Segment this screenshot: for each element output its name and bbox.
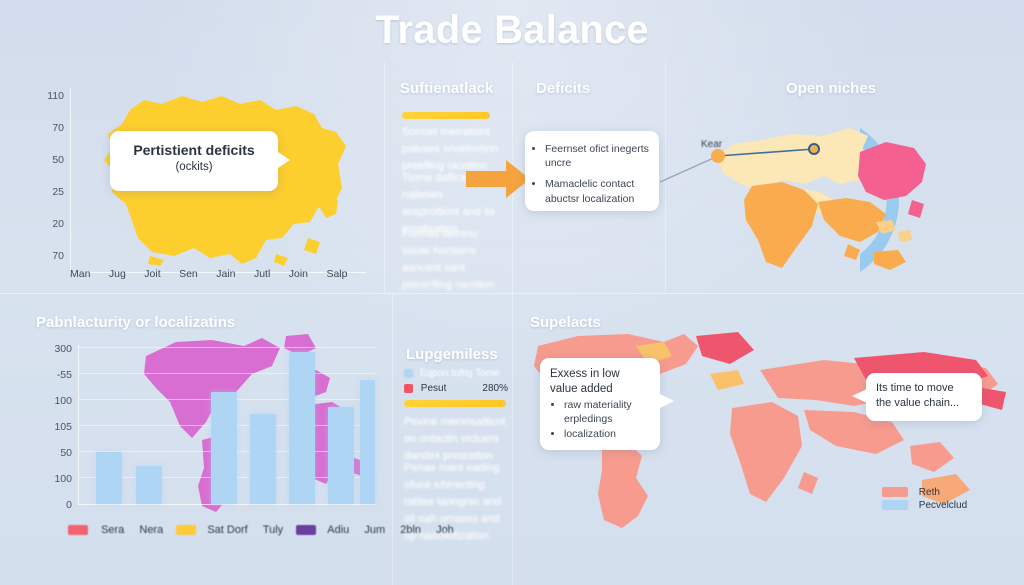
- legend-item-pecvelclud: Pecvelclud: [882, 500, 967, 511]
- bar-ytick-0: 300: [30, 343, 72, 355]
- legend-bottom-right: Reth Pecvelclud: [882, 487, 967, 511]
- ytick-3: 25: [26, 186, 64, 198]
- legend-swatch-pecvelclud: [882, 500, 908, 510]
- accent-bar-yellow-bottom: [404, 400, 506, 407]
- legend-swatch-adiu: [296, 525, 316, 535]
- bar-x-axis-line: [78, 504, 375, 505]
- callout-persistent-deficits-line2: (ockits): [110, 161, 278, 173]
- legend-item-pesut: Pesut 280%: [404, 383, 508, 394]
- bar-item: [136, 466, 162, 504]
- legend-label-sera: Sera: [101, 524, 124, 536]
- callout-excess-bullet-1: raw materiality erpledings: [564, 399, 660, 426]
- xtick-jug: Jug: [109, 268, 126, 280]
- callout-tail-persistent-deficits: [278, 152, 290, 168]
- callout-persistent-deficits: Pertistient deficits (ockits): [110, 131, 278, 191]
- section-title-pabnlacturity: Pabnlacturity or localizatins: [36, 314, 235, 331]
- paragraph-bottom-1: Poxine mersnsalticnt on ontactin victuer…: [404, 414, 506, 465]
- legend-swatch-sat-dorf: [176, 525, 196, 535]
- world-map-open-niches: [700, 110, 1000, 290]
- callout-excess-line2: value added: [550, 383, 660, 395]
- bar-item: [250, 414, 276, 504]
- callout-excess-line1: Exxess in low: [550, 368, 660, 380]
- callout-excess-bullet-2: localization: [564, 428, 660, 442]
- legend-label-eqpon: Eqpon tultig Tome: [420, 368, 500, 379]
- paragraph-bottom-2: Penae mant eading ofuce icbrrecting rati…: [404, 460, 506, 545]
- legend-item-reth: Reth: [882, 487, 967, 498]
- callout-value-chain-line1: Its time to move: [876, 382, 982, 394]
- xtick-sen: Sen: [179, 268, 198, 280]
- panel-divider-vertical-top-1: [384, 62, 385, 293]
- paragraph-top-3: Formes detresc sisuie hortaens aanceot s…: [402, 226, 502, 294]
- xtick-jutl: Jutl: [254, 268, 270, 280]
- bar-item: [289, 352, 315, 504]
- ytick-4: 20: [26, 218, 64, 230]
- section-title-open-niches: Open niches: [786, 80, 876, 97]
- section-title-deficits: Deficits: [536, 80, 590, 97]
- bar-ytick-3: 105: [30, 421, 72, 433]
- legend-value-pesut: 280%: [482, 383, 508, 394]
- legend-bottom-left: Sera Nera Sat Dorf Tuly Adiu Jum 2bln Jo…: [68, 524, 460, 536]
- ytick-2: 50: [26, 154, 64, 166]
- accent-bar-yellow-top: [402, 112, 490, 119]
- legend-label-tuly: Tuly: [263, 524, 283, 536]
- callout-value-chain-line2: the value chain...: [876, 397, 982, 409]
- legend-swatch-reth: [882, 487, 908, 497]
- panel-divider-vertical-bottom-2: [512, 294, 513, 585]
- legend-swatch-eqpon: [404, 369, 413, 378]
- bar-ytick-1: -55: [30, 369, 72, 381]
- legend-label-reth: Reth: [919, 487, 940, 498]
- ytick-0: 110: [26, 90, 64, 102]
- chart-bottom-left: 300 -55 100 105 50 100 0: [30, 345, 375, 515]
- legend-label-pecvelclud: Pecvelclud: [919, 500, 967, 511]
- xtick-man: Man: [70, 268, 90, 280]
- bar-ytick-5: 100: [30, 473, 72, 485]
- bar-ytick-6: 0: [30, 499, 72, 511]
- arrow-right-icon: [466, 158, 532, 200]
- deficit-bullet-1: Feernset ofict inegerts uncre: [545, 142, 651, 170]
- bar-ytick-2: 100: [30, 395, 72, 407]
- infographic-canvas: Trade Balance 110 70 50 25 20 70 Man Jug…: [0, 0, 1024, 585]
- map-connector-line: [660, 120, 840, 190]
- xaxis-top-left: Man Jug Joit Sen Jain Jutl Join Salp: [70, 264, 370, 282]
- callout-excess-low-value: Exxess in low value added raw materialit…: [540, 358, 660, 450]
- callout-value-chain: Its time to move the value chain...: [866, 373, 982, 421]
- bar-plot-area: [78, 345, 375, 504]
- legend-item-eqpon: Eqpon tultig Tome: [404, 368, 508, 379]
- bar-item: [328, 407, 354, 504]
- callout-tail-excess: [660, 394, 674, 408]
- xtick-salp: Salp: [326, 268, 347, 280]
- page-title: Trade Balance: [0, 8, 1024, 53]
- bar-item: [211, 392, 237, 504]
- legend-label-sat-dorf: Sat Dorf: [207, 524, 247, 536]
- section-title-lupgemiless: Lupgemiless: [406, 346, 498, 363]
- panel-divider-vertical-top-3: [665, 62, 666, 293]
- bar-ytick-4: 50: [30, 447, 72, 459]
- deficit-bullet-2: Mamaclelic contact abuctsr localization: [545, 177, 651, 205]
- legend-label-adiu: Adiu: [327, 524, 349, 536]
- legend-swatch-pesut: [404, 384, 413, 393]
- legend-swatch-sera: [68, 525, 88, 535]
- legend-label-jum: Jum: [364, 524, 385, 536]
- ytick-5: 70: [26, 250, 64, 262]
- callout-deficits-bullets: Feernset ofict inegerts uncre Mamaclelic…: [525, 131, 659, 211]
- callout-tail-value-chain: [852, 389, 867, 403]
- map-marker-label-kear: Kear: [701, 139, 722, 150]
- section-title-supelacts: Supelacts: [530, 314, 601, 331]
- panel-divider-vertical-bottom-1: [392, 294, 393, 585]
- ytick-1: 70: [26, 122, 64, 134]
- callout-persistent-deficits-line1: Pertistient deficits: [110, 142, 278, 158]
- xtick-join: Join: [289, 268, 308, 280]
- section-title-suftienatlack: Suftienatlack: [400, 80, 493, 97]
- bar-item: [360, 380, 375, 504]
- xtick-jain: Jain: [216, 268, 235, 280]
- legend-label-pesut: Pesut: [421, 383, 447, 394]
- legend-label-nera: Nera: [139, 524, 163, 536]
- y-axis-line: [70, 88, 71, 272]
- bar-item: [96, 452, 122, 504]
- xtick-joit: Joit: [144, 268, 160, 280]
